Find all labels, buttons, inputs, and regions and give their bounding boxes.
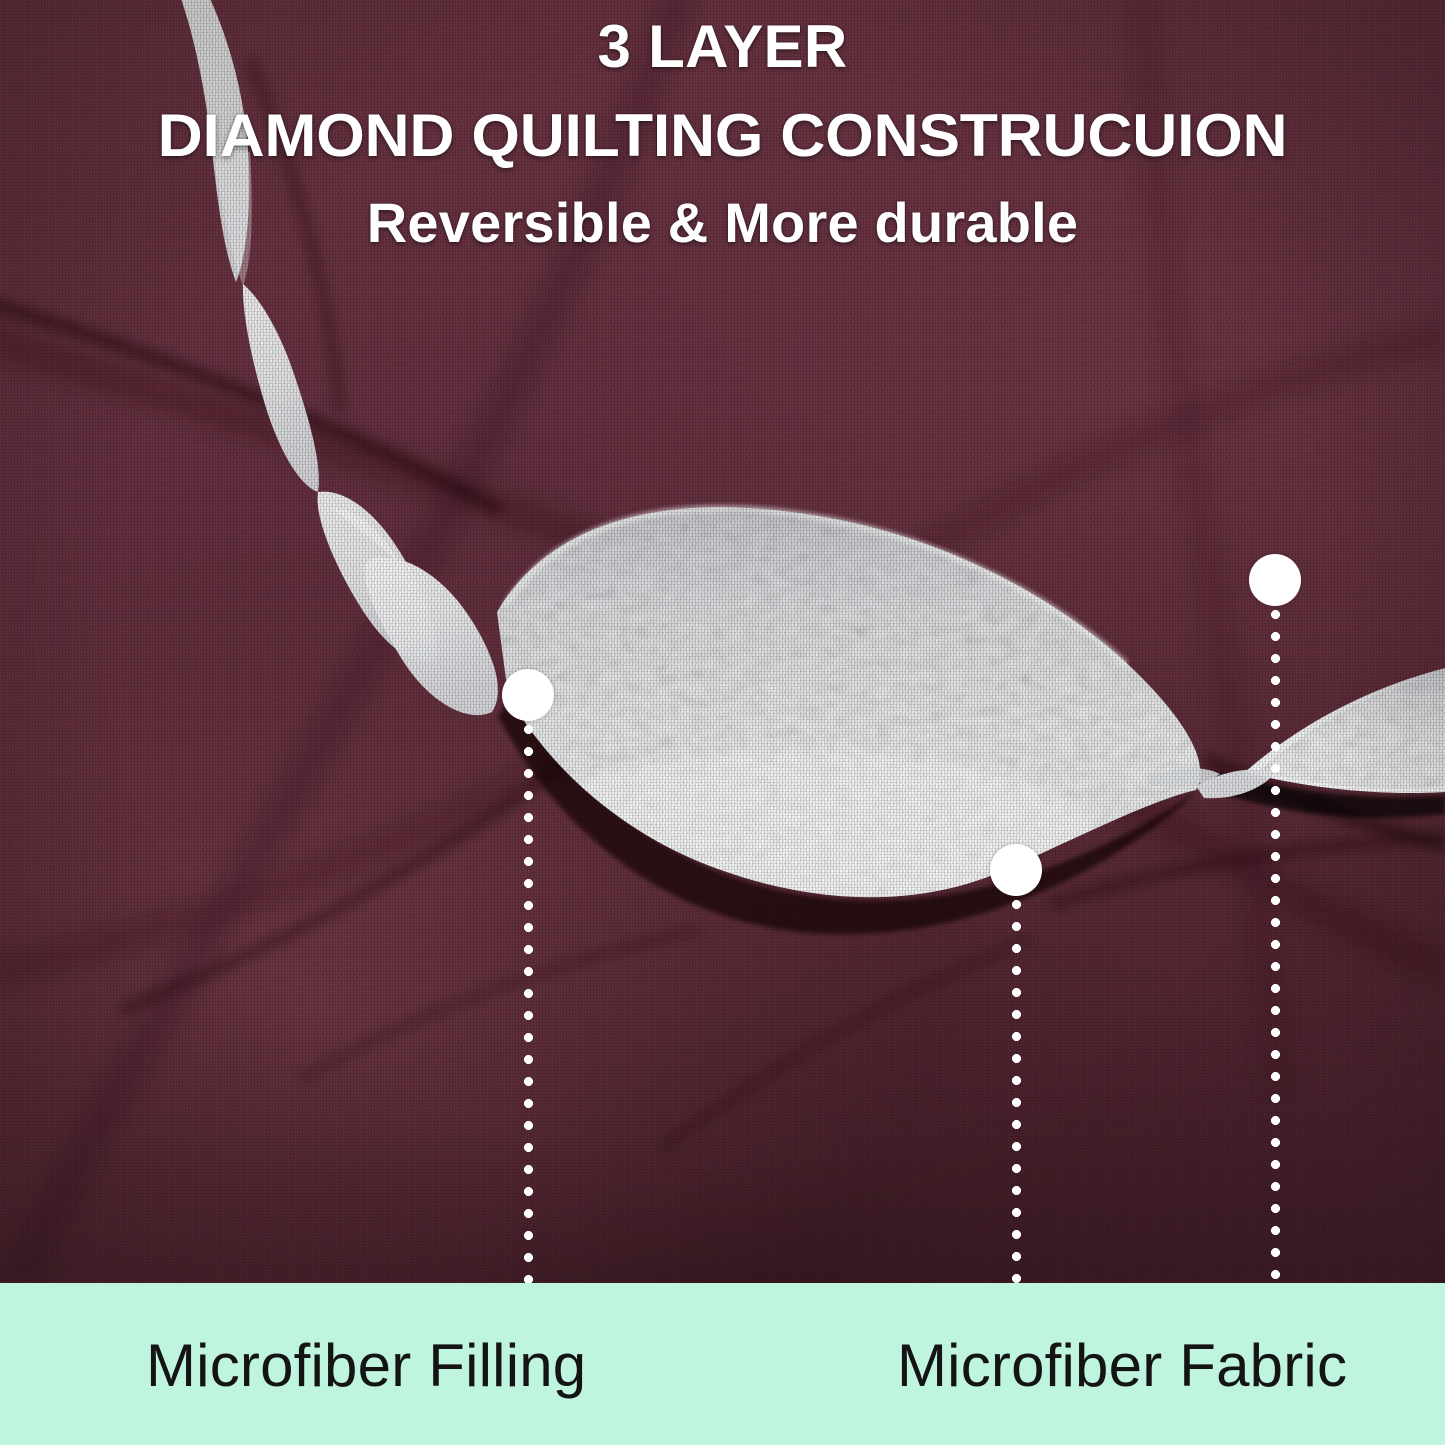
- callout-dotted-line-fabric-right: [1271, 610, 1280, 1283]
- callout-knob-fabric-right: [1249, 554, 1301, 606]
- callout-dotted-line-filling: [524, 725, 533, 1283]
- product-photo: 3 LAYER DIAMOND QUILTING CONSTRUCUION Re…: [0, 0, 1445, 1283]
- headline-line-2: DIAMOND QUILTING CONSTRUCUION: [0, 105, 1445, 166]
- headline-block: 3 LAYER DIAMOND QUILTING CONSTRUCUION Re…: [0, 16, 1445, 251]
- product-infographic: 3 LAYER DIAMOND QUILTING CONSTRUCUION Re…: [0, 0, 1445, 1445]
- callout-knob-fabric-left: [990, 844, 1042, 896]
- headline-line-1: 3 LAYER: [0, 16, 1445, 77]
- callout-knob-filling: [502, 669, 554, 721]
- headline-line-3: Reversible & More durable: [0, 194, 1445, 251]
- legend-label-microfiber-fabric: Microfiber Fabric: [897, 1331, 1347, 1400]
- legend-label-microfiber-filling: Microfiber Filling: [146, 1331, 586, 1400]
- callout-dotted-line-fabric-left: [1012, 900, 1021, 1283]
- legend-band: Microfiber Filling Microfiber Fabric: [0, 1283, 1445, 1445]
